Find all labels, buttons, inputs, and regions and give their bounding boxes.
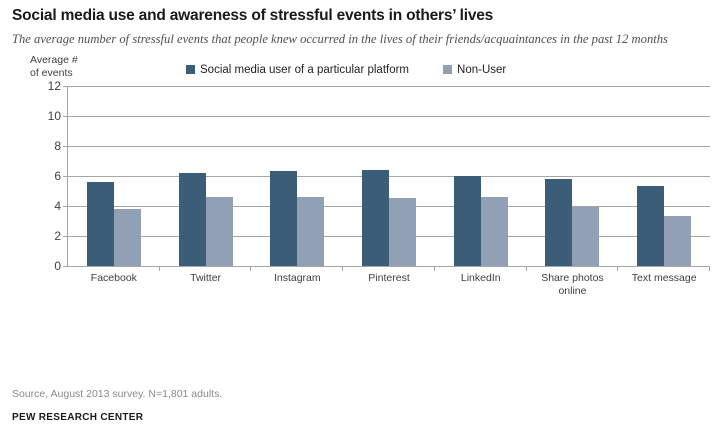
brand-label: PEW RESEARCH CENTER: [12, 412, 708, 423]
chart-header: Social media use and awareness of stress…: [0, 0, 720, 48]
bar-group: [435, 86, 527, 266]
y-axis-title: Average # of events: [30, 54, 78, 80]
legend-label: Social media user of a particular platfo…: [200, 64, 409, 76]
bar[interactable]: [454, 176, 481, 266]
x-axis-category-label: Facebook: [68, 272, 160, 298]
legend-swatch-icon: [443, 65, 452, 74]
axis-caption-and-legend: Average # of events Social media user of…: [0, 54, 720, 86]
y-tick-label: 2: [54, 229, 61, 243]
plot-area: 024681012 FacebookTwitterInstagramPinter…: [0, 86, 720, 336]
y-tick-label: 12: [48, 79, 61, 93]
x-axis-line: [68, 266, 710, 267]
bar[interactable]: [545, 179, 572, 266]
chart-title: Social media use and awareness of stress…: [12, 7, 708, 26]
bar-group: [527, 86, 619, 266]
x-axis-category-label: Pinterest: [343, 272, 435, 298]
x-axis-category-label: LinkedIn: [435, 272, 527, 298]
y-tick-label: 10: [48, 109, 61, 123]
plot-canvas: 024681012: [68, 86, 710, 266]
y-tick-label: 4: [54, 199, 61, 213]
bar[interactable]: [664, 216, 691, 266]
chart-footer: Source, August 2013 survey. N=1,801 adul…: [12, 388, 708, 423]
bar-group: [251, 86, 343, 266]
bar[interactable]: [114, 209, 141, 266]
legend-label: Non-User: [457, 64, 506, 76]
legend-item[interactable]: Social media user of a particular platfo…: [186, 64, 409, 76]
chart-legend: Social media user of a particular platfo…: [186, 64, 506, 76]
y-tick-label: 6: [54, 169, 61, 183]
bar[interactable]: [297, 197, 324, 266]
bar[interactable]: [389, 198, 416, 266]
x-axis-category-label: Twitter: [160, 272, 252, 298]
bar-group: [160, 86, 252, 266]
legend-item[interactable]: Non-User: [443, 64, 506, 76]
chart-subtitle: The average number of stressful events t…: [12, 31, 708, 48]
bar-group: [68, 86, 160, 266]
bar[interactable]: [206, 197, 233, 266]
x-axis-labels: FacebookTwitterInstagramPinterestLinkedI…: [68, 272, 710, 298]
bar[interactable]: [270, 171, 297, 266]
bar-group: [343, 86, 435, 266]
x-axis-category-label: Share photos online: [527, 272, 619, 298]
bar[interactable]: [179, 173, 206, 266]
legend-swatch-icon: [186, 65, 195, 74]
bar[interactable]: [87, 182, 114, 266]
bar[interactable]: [481, 197, 508, 266]
x-axis-category-label: Text message: [618, 272, 710, 298]
bar[interactable]: [637, 186, 664, 266]
bar[interactable]: [362, 170, 389, 266]
bar-group: [618, 86, 710, 266]
bar[interactable]: [572, 207, 599, 266]
y-tick-label: 0: [54, 259, 61, 273]
y-tick-label: 8: [54, 139, 61, 153]
source-note: Source, August 2013 survey. N=1,801 adul…: [12, 388, 708, 400]
x-axis-category-label: Instagram: [251, 272, 343, 298]
bar-groups: [68, 86, 710, 266]
